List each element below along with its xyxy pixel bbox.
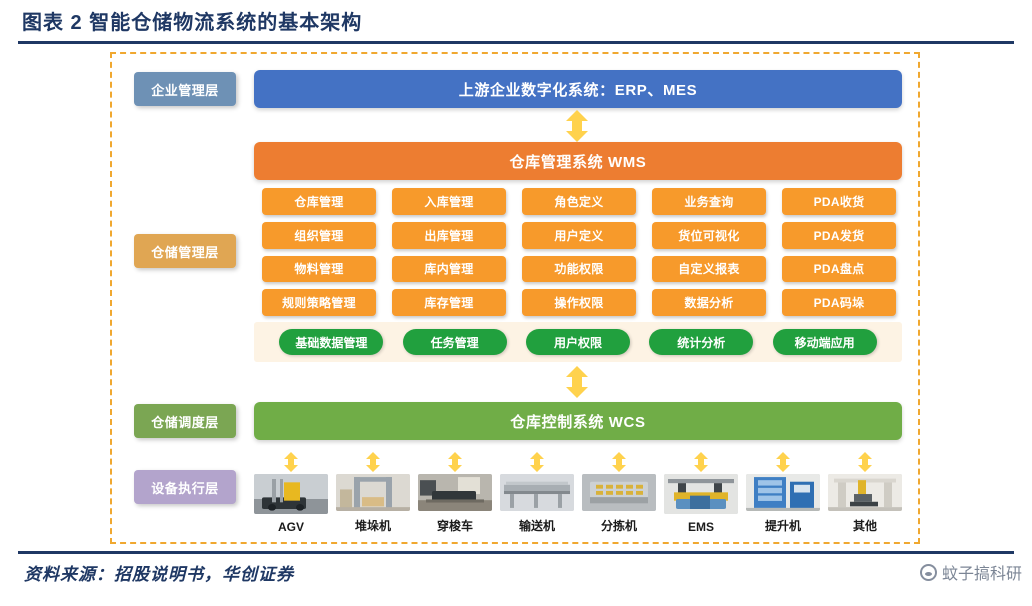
double-arrow-icon (365, 452, 381, 472)
module-button[interactable]: 用户定义 (522, 222, 636, 249)
device-cell-stacker: 堆垛机 (336, 452, 410, 534)
layer-tag-storage: 仓储管理层 (134, 234, 236, 268)
module-button[interactable]: 功能权限 (522, 256, 636, 283)
wms-module-grid: 仓库管理 入库管理 角色定义 业务查询 PDA收货 组织管理 出库管理 用户定义… (262, 188, 896, 316)
device-label: 其他 (853, 517, 877, 534)
banner-wms: 仓库管理系统 WMS (254, 142, 902, 180)
module-button[interactable]: 操作权限 (522, 289, 636, 316)
conveyor-photo (500, 474, 574, 511)
double-arrow-icon (564, 366, 590, 398)
device-cell-agv: AGV (254, 452, 328, 534)
double-arrow-icon (564, 110, 590, 142)
module-button[interactable]: PDA发货 (782, 222, 896, 249)
figure-page: 图表 2 智能仓储物流系统的基本架构 企业管理层 仓储管理层 仓储调度层 设备执… (0, 0, 1032, 606)
lifter-photo (746, 474, 820, 511)
footer-divider (18, 551, 1014, 554)
banner-erp-mes: 上游企业数字化系统：ERP、MES (254, 70, 902, 108)
source-note: 资料来源：招股说明书，华创证券 (24, 560, 294, 585)
banner-label: 上游企业数字化系统：ERP、MES (459, 79, 698, 100)
capability-button[interactable]: 统计分析 (649, 329, 753, 355)
layer-tag-dispatch: 仓储调度层 (134, 404, 236, 438)
device-label: 输送机 (519, 517, 555, 534)
banner-wcs: 仓库控制系统 WCS (254, 402, 902, 440)
module-button[interactable]: 库内管理 (392, 256, 506, 283)
shuttle-vehicle-photo (418, 474, 492, 511)
layer-tag-label: 企业管理层 (151, 80, 219, 99)
module-button[interactable]: 货位可视化 (652, 222, 766, 249)
module-button[interactable]: 仓库管理 (262, 188, 376, 215)
agv-photo (254, 474, 328, 514)
module-button[interactable]: 库存管理 (392, 289, 506, 316)
page-title: 图表 2 智能仓储物流系统的基本架构 (22, 6, 362, 35)
header-divider (18, 41, 1014, 44)
module-button[interactable]: 数据分析 (652, 289, 766, 316)
device-cell-ems: EMS (664, 452, 738, 534)
device-label: EMS (688, 520, 714, 534)
device-label: 堆垛机 (355, 517, 391, 534)
device-cell-sorter: 分拣机 (582, 452, 656, 534)
banner-label: 仓库管理系统 WMS (510, 151, 647, 172)
module-button[interactable]: 组织管理 (262, 222, 376, 249)
module-button[interactable]: 规则策略管理 (262, 289, 376, 316)
architecture-diagram: 企业管理层 仓储管理层 仓储调度层 设备执行层 上游企业数字化系统：ERP、ME… (110, 52, 920, 544)
module-button[interactable]: 业务查询 (652, 188, 766, 215)
module-button[interactable]: 出库管理 (392, 222, 506, 249)
device-label: 提升机 (765, 517, 801, 534)
double-arrow-icon (693, 452, 709, 472)
double-arrow-icon (447, 452, 463, 472)
device-cell-other: 其他 (828, 452, 902, 534)
device-label: 分拣机 (601, 517, 637, 534)
capability-button[interactable]: 移动端应用 (773, 329, 877, 355)
double-arrow-icon (529, 452, 545, 472)
stacker-crane-photo (336, 474, 410, 511)
device-cell-lifter: 提升机 (746, 452, 820, 534)
capability-button[interactable]: 用户权限 (526, 329, 630, 355)
mosquito-circle-icon (920, 564, 937, 581)
watermark: 蚊子搞科研 (920, 560, 1022, 584)
double-arrow-icon (775, 452, 791, 472)
device-row: AGV 堆垛机 (254, 452, 902, 534)
watermark-label: 蚊子搞科研 (942, 560, 1022, 584)
banner-label: 仓库控制系统 WCS (510, 411, 645, 432)
shared-capability-panel: 基础数据管理 任务管理 用户权限 统计分析 移动端应用 (254, 322, 902, 362)
layer-tag-label: 设备执行层 (151, 478, 219, 497)
layer-tag-enterprise: 企业管理层 (134, 72, 236, 106)
device-cell-conveyor: 输送机 (500, 452, 574, 534)
module-button[interactable]: 自定义报表 (652, 256, 766, 283)
layer-tag-device: 设备执行层 (134, 470, 236, 504)
device-label: AGV (278, 520, 304, 534)
module-button[interactable]: 角色定义 (522, 188, 636, 215)
capability-button[interactable]: 任务管理 (403, 329, 507, 355)
ems-photo (664, 474, 738, 514)
module-button[interactable]: PDA码垛 (782, 289, 896, 316)
module-button[interactable]: 物料管理 (262, 256, 376, 283)
sorter-photo (582, 474, 656, 511)
double-arrow-icon (611, 452, 627, 472)
layer-tag-label: 仓储管理层 (151, 242, 219, 261)
double-arrow-icon (857, 452, 873, 472)
double-arrow-icon (283, 452, 299, 472)
layer-tag-label: 仓储调度层 (151, 412, 219, 431)
module-button[interactable]: PDA盘点 (782, 256, 896, 283)
module-button[interactable]: 入库管理 (392, 188, 506, 215)
module-button[interactable]: PDA收货 (782, 188, 896, 215)
other-equipment-photo (828, 474, 902, 511)
device-label: 穿梭车 (437, 517, 473, 534)
capability-button[interactable]: 基础数据管理 (279, 329, 383, 355)
device-cell-shuttle: 穿梭车 (418, 452, 492, 534)
